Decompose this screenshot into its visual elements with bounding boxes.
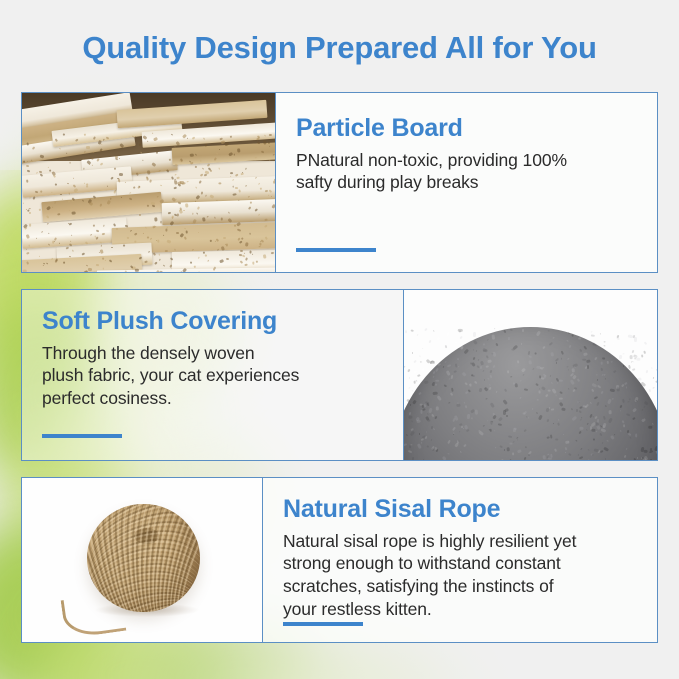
accent-bar <box>296 248 376 252</box>
plush-fabric-photo <box>404 290 657 460</box>
page-title: Quality Design Prepared All for You <box>0 30 679 66</box>
feature-card-soft-plush-covering: Soft Plush Covering Through the densely … <box>21 289 658 461</box>
accent-bar <box>42 434 122 438</box>
particle-board-photo <box>22 93 275 272</box>
card-text-panel: Natural Sisal Rope Natural sisal rope is… <box>262 478 657 642</box>
card-body: Through the densely woven plush fabric, … <box>42 342 383 410</box>
sisal-rope-photo <box>22 478 262 642</box>
card-text-panel: Particle Board PNatural non-toxic, provi… <box>275 93 657 272</box>
feature-card-natural-sisal-rope: Natural Sisal Rope Natural sisal rope is… <box>21 477 658 643</box>
accent-bar <box>283 622 363 626</box>
card-heading: Soft Plush Covering <box>42 308 383 336</box>
card-heading: Particle Board <box>296 115 637 143</box>
card-heading: Natural Sisal Rope <box>283 496 637 524</box>
card-text-panel: Soft Plush Covering Through the densely … <box>22 290 404 460</box>
card-body: Natural sisal rope is highly resilient y… <box>283 530 637 621</box>
feature-card-particle-board: Particle Board PNatural non-toxic, provi… <box>21 92 658 273</box>
card-body: PNatural non-toxic, providing 100% safty… <box>296 149 637 195</box>
